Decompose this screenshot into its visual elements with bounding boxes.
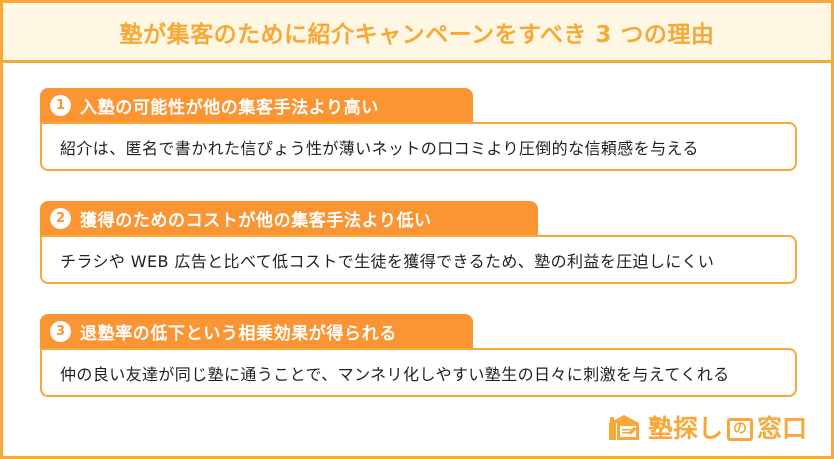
- spacer: [3, 284, 831, 314]
- school-house-icon: [607, 414, 641, 442]
- reason-3-body-text: 仲の良い友達が同じ塾に通うことで、マンネリ化しやすい塾生の日々に刺激を与えてくれ…: [60, 361, 730, 385]
- brand-logo: 塾探し の 窓口: [607, 414, 807, 442]
- reason-1-heading: 入塾の可能性が他の集客手法より高い: [80, 93, 379, 118]
- reason-1-header-row: 1 入塾の可能性が他の集客手法より高い: [3, 88, 831, 122]
- page-title: 塾が集客のために紹介キャンペーンをすべき 3 つの理由: [120, 15, 715, 49]
- title-band: 塾が集客のために紹介キャンペーンをすべき 3 つの理由: [3, 3, 831, 63]
- reason-item-3: 3 退塾率の低下という相乗効果が得られる 仲の良い友達が同じ塾に通うことで、マン…: [3, 314, 831, 397]
- reason-3-body-box: 仲の良い友達が同じ塾に通うことで、マンネリ化しやすい塾生の日々に刺激を与えてくれ…: [40, 348, 797, 397]
- brand-particle-box: の: [727, 418, 753, 441]
- reason-2-header-bar: 2 獲得のためのコストが他の集客手法より低い: [40, 201, 538, 235]
- reason-list: 1 入塾の可能性が他の集客手法より高い 紹介は、匿名で書かれた信ぴょう性が薄いネ…: [3, 60, 831, 397]
- reason-2-number-badge: 2: [50, 208, 71, 229]
- reason-2-heading: 獲得のためのコストが他の集客手法より低い: [80, 206, 432, 231]
- reason-3-header-bar: 3 退塾率の低下という相乗効果が得られる: [40, 314, 473, 348]
- brand-word-1: 塾探し: [648, 416, 723, 441]
- reason-1-header-bar: 1 入塾の可能性が他の集客手法より高い: [40, 88, 473, 122]
- brand-particle: の: [733, 422, 747, 436]
- reason-3-number-badge: 3: [50, 321, 71, 342]
- reason-item-2: 2 獲得のためのコストが他の集客手法より低い チラシや WEB 広告と比べて低コ…: [3, 201, 831, 284]
- reason-2-header-row: 2 獲得のためのコストが他の集客手法より低い: [3, 201, 831, 235]
- reason-item-1: 1 入塾の可能性が他の集客手法より高い 紹介は、匿名で書かれた信ぴょう性が薄いネ…: [3, 88, 831, 171]
- reason-1-number-badge: 1: [50, 95, 71, 116]
- reason-1-body-box: 紹介は、匿名で書かれた信ぴょう性が薄いネットの口コミより圧倒的な信頼感を与える: [40, 122, 797, 171]
- reason-3-header-row: 3 退塾率の低下という相乗効果が得られる: [3, 314, 831, 348]
- infographic-canvas: 塾が集客のために紹介キャンペーンをすべき 3 つの理由 1 入塾の可能性が他の集…: [0, 0, 834, 459]
- spacer: [3, 60, 831, 88]
- brand-word-2: 窓口: [757, 416, 807, 441]
- reason-1-body-text: 紹介は、匿名で書かれた信ぴょう性が薄いネットの口コミより圧倒的な信頼感を与える: [60, 135, 699, 159]
- reason-2-body-text: チラシや WEB 広告と比べて低コストで生徒を獲得できるため、塾の利益を圧迫しに…: [60, 248, 714, 272]
- brand-wordmark: 塾探し の 窓口: [648, 416, 807, 441]
- spacer: [3, 171, 831, 201]
- reason-2-body-box: チラシや WEB 広告と比べて低コストで生徒を獲得できるため、塾の利益を圧迫しに…: [40, 235, 797, 284]
- reason-3-heading: 退塾率の低下という相乗効果が得られる: [80, 319, 397, 344]
